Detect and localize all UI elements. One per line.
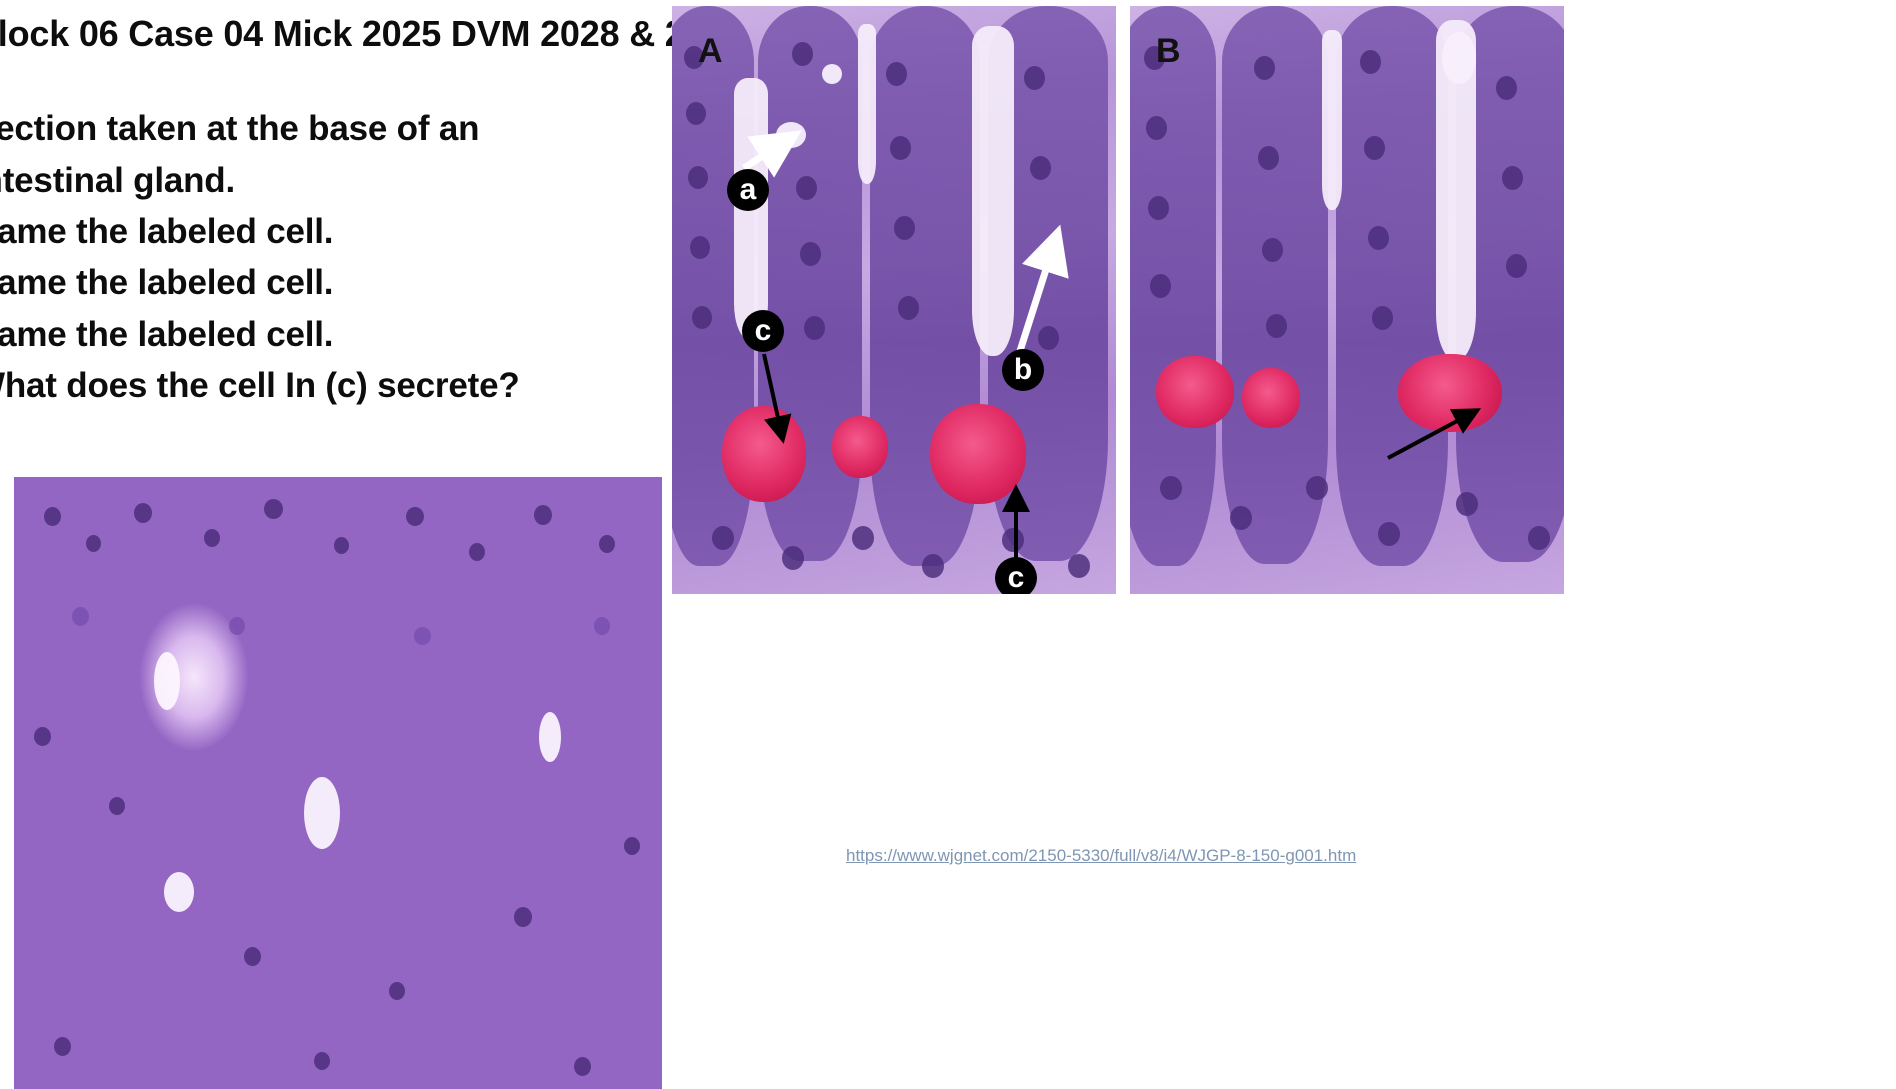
cell-nucleus [624, 837, 640, 855]
cell-nucleus [1456, 492, 1478, 516]
gland-lumen [154, 652, 180, 710]
crypt-lumen [972, 26, 1014, 356]
label-bubble-b: b [1002, 349, 1044, 391]
gland-lumen [539, 712, 561, 762]
cell-nucleus [890, 136, 911, 160]
cell-nucleus [1262, 238, 1283, 262]
figure-panel-b: B [1130, 6, 1564, 594]
cell-nucleus [898, 296, 919, 320]
cell-nucleus [804, 316, 825, 340]
cell-nucleus [264, 499, 283, 519]
cell-nucleus [109, 797, 125, 815]
cell-nucleus [922, 554, 944, 578]
cell-nucleus [334, 537, 349, 554]
cell-nucleus [894, 216, 915, 240]
cell-nucleus [1372, 306, 1393, 330]
cell-nucleus [314, 1052, 330, 1070]
paneth-cell-cluster [1242, 368, 1300, 428]
cell-nucleus [686, 102, 706, 125]
cell-nucleus [44, 507, 61, 526]
cell-nucleus [1146, 116, 1167, 140]
cell-nucleus [1502, 166, 1523, 190]
cell-nucleus [389, 982, 405, 1000]
cell-nucleus [782, 546, 804, 570]
paneth-cell-cluster [1156, 356, 1234, 428]
cell-nucleus [1506, 254, 1527, 278]
cell-nucleus [599, 535, 615, 553]
cell-nucleus [792, 42, 813, 66]
cell-nucleus [1266, 314, 1287, 338]
body-line-5: Name the labeled cell. [0, 309, 672, 360]
goblet-cell [822, 64, 842, 84]
cell-nucleus [1038, 326, 1059, 350]
text-column: Block 06 Case 04 Mick 2025 DVM 2028 & 20… [0, 8, 672, 412]
cell-nucleus [688, 166, 708, 189]
cell-nucleus [134, 503, 152, 523]
slide-canvas: Block 06 Case 04 Mick 2025 DVM 2028 & 20… [0, 0, 1896, 1089]
cell-nucleus [1030, 156, 1051, 180]
body-line-6: What does the cell In (c) secrete? [0, 360, 672, 411]
cell-nucleus [1378, 522, 1400, 546]
cell-nucleus [1150, 274, 1171, 298]
cell-nucleus [690, 236, 710, 259]
body-line-3: Name the labeled cell. [0, 206, 672, 257]
cell-nucleus [886, 62, 907, 86]
cell-nucleus [469, 543, 485, 561]
cell-nucleus [204, 529, 220, 547]
cell-nucleus [1002, 528, 1024, 552]
cell-nucleus [1258, 146, 1279, 170]
goblet-cell [1442, 32, 1476, 84]
gland-lumen [304, 777, 340, 849]
cell-nucleus [1024, 66, 1045, 90]
cell-nucleus [1528, 526, 1550, 550]
cell-nucleus [1034, 246, 1055, 270]
cell-nucleus [1148, 196, 1169, 220]
cell-nucleus [1496, 76, 1517, 100]
intestinal-crypt [1336, 6, 1448, 566]
cell-nucleus [574, 1057, 591, 1076]
label-bubble-c-upper: c [742, 310, 784, 352]
cell-nucleus [229, 617, 245, 635]
cell-nucleus [1230, 506, 1252, 530]
intestinal-gland-micrograph [14, 477, 662, 1089]
paneth-cell-cluster [930, 404, 1026, 504]
gland-lumen [164, 872, 194, 912]
cell-nucleus [406, 507, 424, 526]
page-title: Block 06 Case 04 Mick 2025 DVM 2028 & 20… [0, 8, 672, 59]
cell-nucleus [534, 505, 552, 525]
source-url-link[interactable]: https://www.wjgnet.com/2150-5330/full/v8… [846, 846, 1356, 866]
body-line-1: Section taken at the base of an [0, 103, 672, 154]
cell-nucleus [1360, 50, 1381, 74]
cell-nucleus [1368, 226, 1389, 250]
cell-nucleus [72, 607, 89, 626]
cell-nucleus [414, 627, 431, 645]
figure-panel-a: A [672, 6, 1116, 594]
cell-nucleus [54, 1037, 71, 1056]
cell-nucleus [712, 526, 734, 550]
cell-nucleus [800, 242, 821, 266]
panel-letter-b: B [1156, 32, 1181, 71]
paneth-cell-cluster [722, 406, 806, 502]
cell-nucleus [692, 306, 712, 329]
crypt-lumen [1322, 30, 1342, 210]
cell-nucleus [1254, 56, 1275, 80]
cell-nucleus [244, 947, 261, 966]
cell-nucleus [34, 727, 51, 746]
cell-nucleus [594, 617, 610, 635]
goblet-cell [776, 122, 806, 148]
label-bubble-c-lower: c [995, 557, 1037, 594]
figure-panels: A [672, 6, 1896, 594]
cell-nucleus [796, 176, 817, 200]
cell-nucleus [852, 526, 874, 550]
body-line-2: intestinal gland. [0, 155, 672, 206]
question-list: Section taken at the base of an intestin… [0, 103, 672, 412]
cell-nucleus [514, 907, 532, 927]
cell-nucleus [1364, 136, 1385, 160]
paneth-cell-cluster [1398, 354, 1502, 432]
body-line-4: Name the labeled cell. [0, 257, 672, 308]
cell-nucleus [1160, 476, 1182, 500]
crypt-lumen [858, 24, 876, 184]
label-bubble-a: a [727, 169, 769, 211]
cell-nucleus [86, 535, 101, 552]
cell-nucleus [1068, 554, 1090, 578]
panel-letter-a: A [698, 32, 723, 71]
paneth-cell-cluster [832, 416, 888, 478]
cell-nucleus [1306, 476, 1328, 500]
